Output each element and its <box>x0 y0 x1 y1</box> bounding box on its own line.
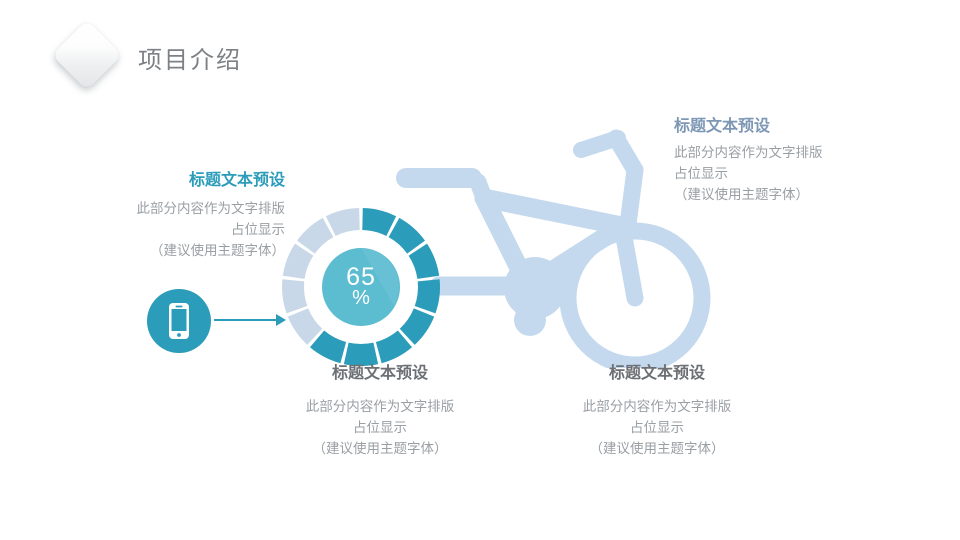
slide-header: 项目介绍 <box>0 0 960 100</box>
block-body-line: （建议使用主题字体） <box>542 438 772 459</box>
text-block-bottom-right: 标题文本预设 此部分内容作为文字排版 占位显示 （建议使用主题字体） <box>542 363 772 459</box>
block-body-line: 占位显示 <box>265 417 495 438</box>
donut-segment-empty <box>331 219 360 226</box>
donut-segment-filled <box>407 313 424 337</box>
text-block-top-right: 标题文本预设 此部分内容作为文字排版 占位显示 （建议使用主题字体） <box>674 116 904 205</box>
block-body-line: 此部分内容作为文字排版 <box>674 142 904 163</box>
donut-segment-filled <box>346 353 376 355</box>
block-body-line: 占位显示 <box>542 417 772 438</box>
block-body-line: 此部分内容作为文字排版 <box>265 396 495 417</box>
diamond-logo-icon <box>52 20 123 91</box>
block-body-line: 此部分内容作为文字排版 <box>542 396 772 417</box>
donut-chart-svg <box>277 203 445 371</box>
donut-segment-filled <box>379 339 405 353</box>
arrow-right-icon <box>214 309 286 331</box>
donut-segment-filled <box>425 280 429 309</box>
block-body-line: （建议使用主题字体） <box>55 240 285 261</box>
block-title: 标题文本预设 <box>55 170 285 192</box>
phone-badge[interactable] <box>147 289 211 353</box>
block-title: 标题文本预设 <box>542 363 772 385</box>
block-body-line: （建议使用主题字体） <box>265 438 495 459</box>
block-body-line: 占位显示 <box>674 163 904 184</box>
donut-segment-filled <box>363 219 392 226</box>
donut-segment-filled <box>394 228 416 248</box>
donut-segment-filled <box>317 339 343 353</box>
donut-segment-empty <box>298 313 315 337</box>
block-title: 标题文本预设 <box>265 363 495 385</box>
donut-progress-chart: 65 % <box>277 203 445 371</box>
smartphone-icon <box>147 289 211 353</box>
donut-segment-filled <box>418 250 428 278</box>
text-block-top-left: 标题文本预设 此部分内容作为文字排版 占位显示 （建议使用主题字体） <box>55 170 285 261</box>
donut-segment-empty <box>293 280 297 309</box>
text-block-bottom-center: 标题文本预设 此部分内容作为文字排版 占位显示 （建议使用主题字体） <box>265 363 495 459</box>
page-title: 项目介绍 <box>138 40 242 75</box>
donut-segment-empty <box>306 228 328 248</box>
donut-segment-empty <box>294 250 304 278</box>
block-body-line: 占位显示 <box>55 219 285 240</box>
block-body-line: 此部分内容作为文字排版 <box>55 198 285 219</box>
block-title: 标题文本预设 <box>674 116 904 138</box>
block-body-line: （建议使用主题字体） <box>674 184 904 205</box>
